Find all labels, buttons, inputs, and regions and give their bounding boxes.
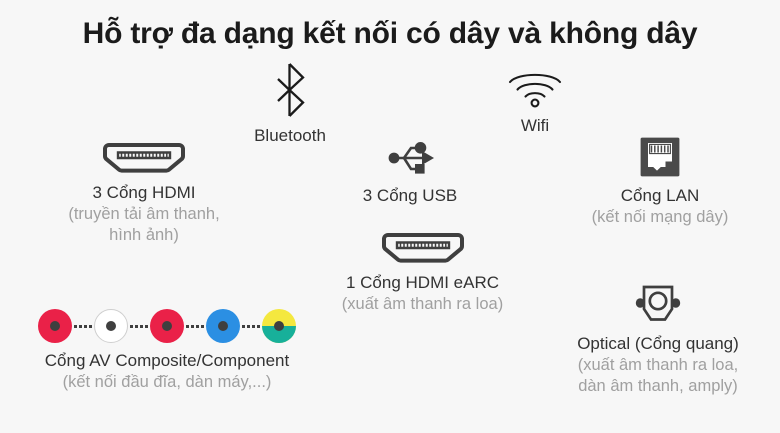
wifi-icon <box>506 68 564 108</box>
lan-sublabel-line1: (kết nối mạng dây) <box>560 207 760 228</box>
usb-label: 3 Cổng USB <box>328 185 492 207</box>
hdmi-sublabel-line2: hình ảnh) <box>18 225 270 246</box>
rca-dots-separator <box>240 325 262 328</box>
usb-icon-wrap <box>328 138 492 178</box>
optical-port-icon <box>631 282 685 326</box>
wifi-icon-wrap <box>476 68 594 108</box>
hdmi-label: 3 Cổng HDMI <box>18 182 270 204</box>
rca-blue <box>206 309 240 343</box>
rca-dots-separator <box>72 325 94 328</box>
hdmi-earc-label: 1 Cổng HDMI eARC <box>295 272 550 294</box>
lan-label: Cổng LAN <box>560 185 760 207</box>
hdmi-port-icon <box>380 231 466 265</box>
rca-red-right <box>150 309 184 343</box>
feature-optical: Optical (Cổng quang) (xuất âm thanh ra l… <box>536 282 780 397</box>
rca-pin <box>218 321 228 331</box>
optical-sublabel-line1: (xuất âm thanh ra loa, <box>536 355 780 376</box>
optical-label: Optical (Cổng quang) <box>536 333 780 355</box>
rca-pin <box>50 321 60 331</box>
feature-bluetooth: Bluetooth <box>215 62 365 147</box>
bluetooth-icon-wrap <box>215 62 365 118</box>
hdmi-sublabel-line1: (truyền tải âm thanh, <box>18 204 270 225</box>
wifi-label: Wifi <box>476 115 594 137</box>
lan-port-icon <box>639 136 681 178</box>
rca-white <box>94 309 128 343</box>
rca-pin <box>106 321 116 331</box>
rca-dots-separator <box>184 325 206 328</box>
infographic-canvas: Hỗ trợ đa dạng kết nối có dây và không d… <box>0 0 780 433</box>
av-composite-sublabel-line1: (kết nối đầu đĩa, dàn máy,...) <box>0 372 337 393</box>
usb-icon <box>382 138 438 178</box>
feature-av-composite: Cổng AV Composite/Component (kết nối đầu… <box>0 306 337 393</box>
rca-dots-separator <box>128 325 150 328</box>
page-title: Hỗ trợ đa dạng kết nối có dây và không d… <box>0 17 780 51</box>
rca-pin <box>162 321 172 331</box>
feature-wifi: Wifi <box>476 68 594 137</box>
bluetooth-icon <box>270 62 310 118</box>
hdmi-earc-icon-wrap <box>295 231 550 265</box>
optical-icon-wrap <box>536 282 780 326</box>
optical-sublabel-line2: dàn âm thanh, amply) <box>536 376 780 397</box>
feature-usb: 3 Cổng USB <box>328 138 492 207</box>
rca-red-left <box>38 309 72 343</box>
feature-hdmi: 3 Cổng HDMI (truyền tải âm thanh, hình ả… <box>18 141 270 246</box>
rca-pin <box>274 321 284 331</box>
feature-hdmi-earc: 1 Cổng HDMI eARC (xuất âm thanh ra loa) <box>295 231 550 315</box>
hdmi-port-icon <box>101 141 187 175</box>
av-composite-label: Cổng AV Composite/Component <box>0 350 337 372</box>
rca-yellow-green <box>262 309 296 343</box>
rca-connectors-icon <box>0 306 337 346</box>
lan-icon-wrap <box>560 136 760 178</box>
hdmi-icon-wrap <box>18 141 270 175</box>
feature-lan: Cổng LAN (kết nối mạng dây) <box>560 136 760 228</box>
